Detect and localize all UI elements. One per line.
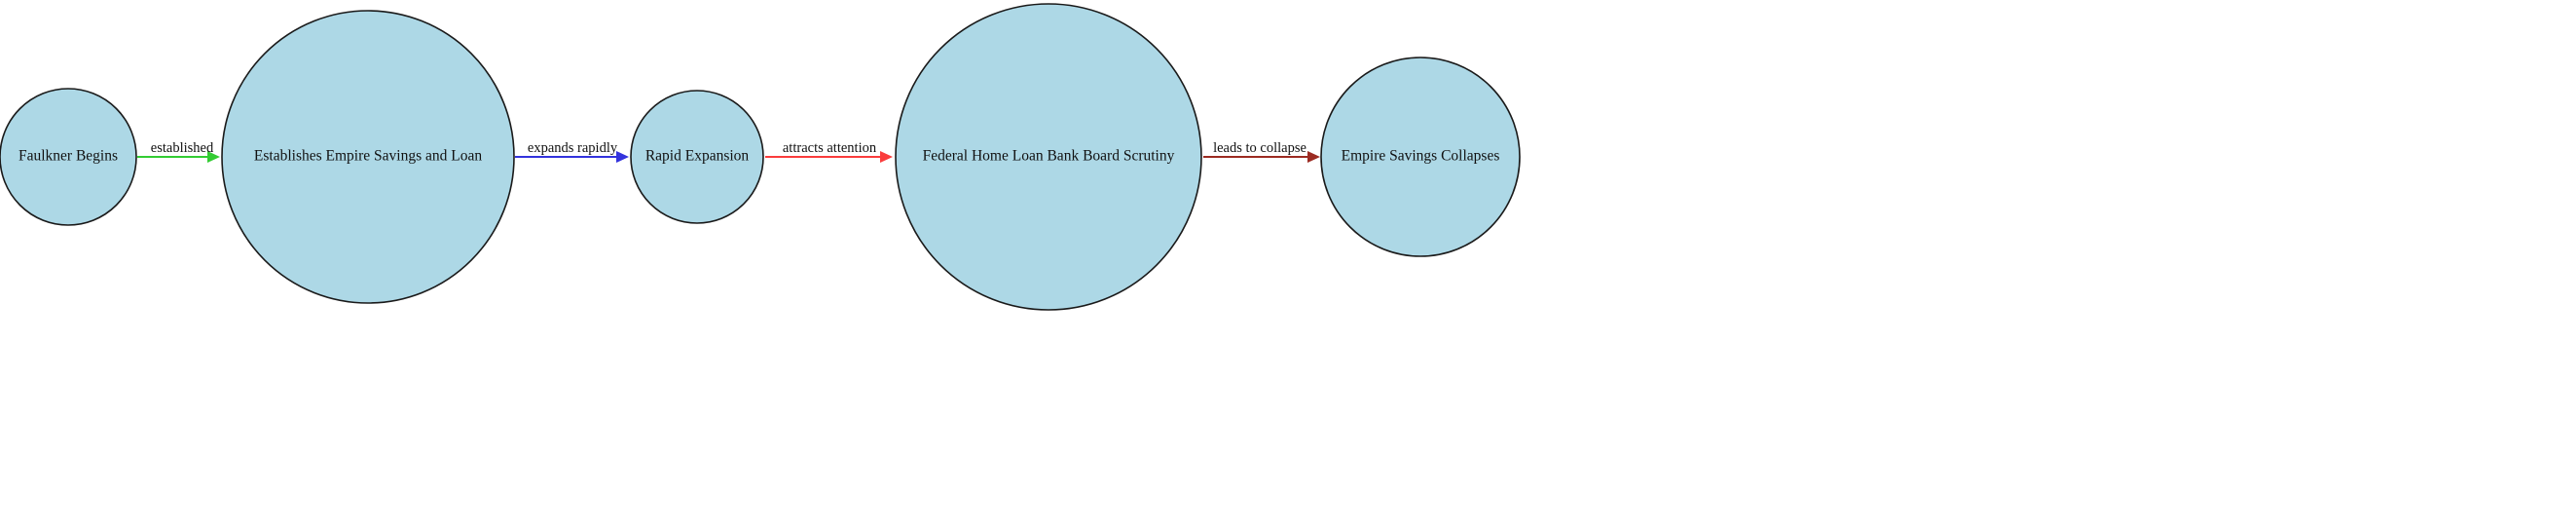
node-label: Federal Home Loan Bank Board Scrutiny [923,148,1175,165]
edge-label: leads to collapse [1213,140,1306,156]
edge-label: expands rapidly [528,140,618,156]
diagram-canvas: establishedexpands rapidlyattracts atten… [0,0,2576,532]
node-establishes-empire-savings-and-loan[interactable]: Establishes Empire Savings and Loan [222,11,514,303]
node-label: Faulkner Begins [18,148,118,165]
node-empire-savings-collapses[interactable]: Empire Savings Collapses [1321,57,1520,256]
node-rapid-expansion[interactable]: Rapid Expansion [631,91,763,223]
edge-label: attracts attention [783,140,877,156]
edge-label: established [151,140,214,156]
node-federal-home-loan-bank-board-scrutiny[interactable]: Federal Home Loan Bank Board Scrutiny [896,4,1201,310]
node-faulkner-begins[interactable]: Faulkner Begins [0,89,136,225]
node-label: Rapid Expansion [645,148,750,165]
node-label: Establishes Empire Savings and Loan [254,148,482,165]
node-label: Empire Savings Collapses [1342,148,1500,165]
flow-diagram-svg: establishedexpands rapidlyattracts atten… [0,0,2576,532]
